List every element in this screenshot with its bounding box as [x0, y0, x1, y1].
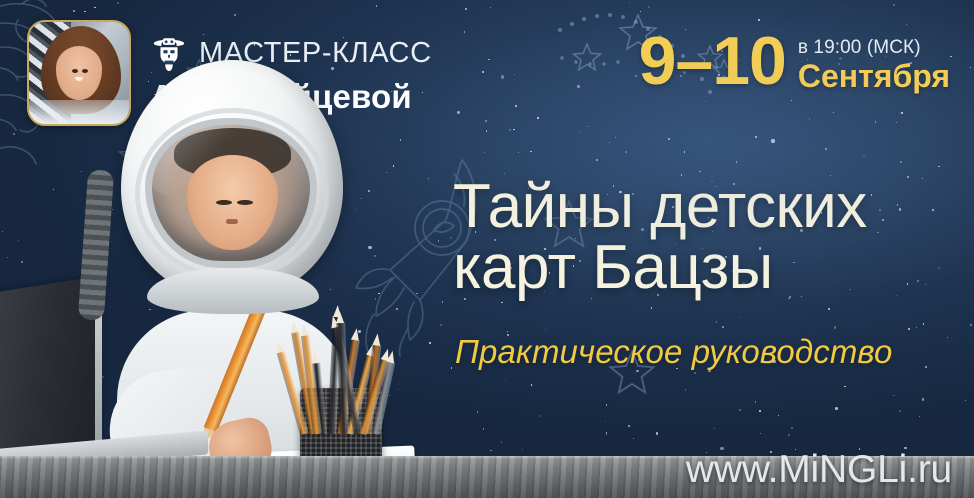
event-time: в 19:00 (МСК)	[798, 38, 950, 59]
promo-banner: МАСТЕР-КЛАСС Анны Зайцевой 9–10 в 19:00 …	[0, 0, 974, 498]
headline-line-1: Тайны детских	[453, 176, 965, 237]
astronaut-helmet	[121, 60, 343, 298]
event-month: Сентября	[798, 60, 950, 94]
helmet-visor	[145, 118, 317, 268]
headline: Тайны детских карт Бацзы	[453, 176, 965, 299]
star-outline-icon	[572, 42, 602, 72]
event-date-block: 9–10 в 19:00 (МСК) Сентября	[639, 30, 950, 94]
helmet-hose	[78, 169, 114, 320]
event-dates: 9–10	[639, 30, 786, 94]
astronaut-kid-photo	[0, 28, 440, 498]
website-url[interactable]: www.MiNGLi.ru	[686, 448, 952, 492]
headline-line-2: карт Бацзы	[453, 237, 965, 298]
headline-subtitle: Практическое руководство	[455, 333, 970, 371]
